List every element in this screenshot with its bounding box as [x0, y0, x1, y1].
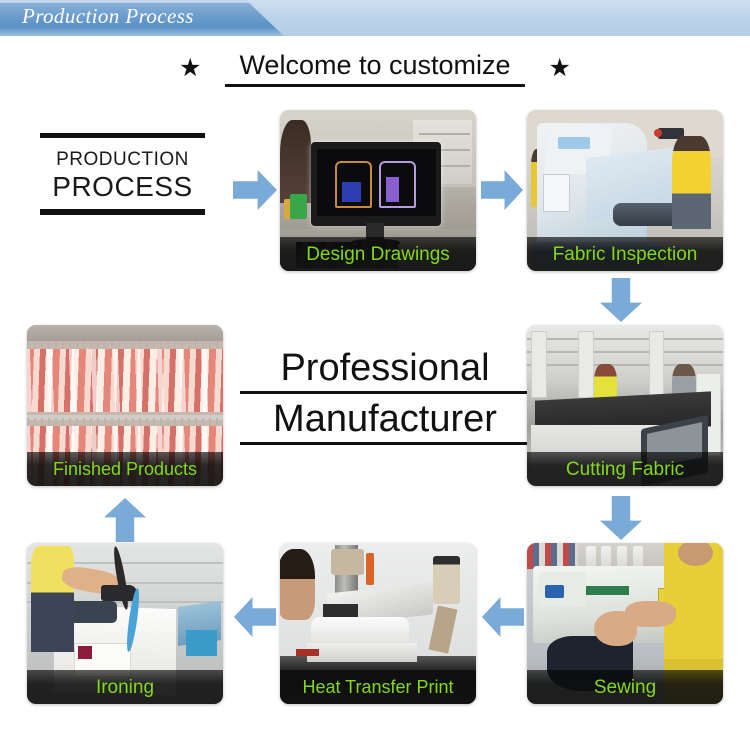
step-card-heat-transfer[interactable]: Heat Transfer Print — [280, 543, 476, 704]
caption-bar-design-drawings: Design Drawings — [280, 237, 476, 271]
caption-bar-sewing: Sewing — [527, 670, 723, 704]
arrow-ironing-to-finished — [104, 498, 146, 542]
production-process-logo: PRODUCTION PROCESS — [40, 133, 205, 215]
caption-heat-transfer: Heat Transfer Print — [302, 678, 453, 696]
arrow-cutting-to-sewing — [600, 496, 642, 540]
slogan-line-2: Manufacturer — [240, 399, 530, 445]
rule-bottom — [40, 209, 205, 215]
production-word: PRODUCTION — [40, 149, 205, 171]
caption-bar-ironing: Ironing — [27, 670, 223, 704]
star-icon-right: ★ — [549, 56, 571, 81]
caption-bar-fabric-inspection: Fabric Inspection — [527, 237, 723, 271]
caption-fabric-inspection: Fabric Inspection — [553, 245, 698, 264]
page-title: Production Process — [22, 4, 194, 29]
caption-design-drawings: Design Drawings — [306, 245, 450, 264]
step-card-design-drawings[interactable]: Design Drawings — [280, 110, 476, 271]
arrow-fabric-to-cutting — [600, 278, 642, 322]
caption-ironing: Ironing — [96, 678, 154, 697]
slogan-line-1: Professional — [240, 348, 530, 394]
arrow-heat-to-ironing — [234, 597, 276, 637]
step-card-cutting-fabric[interactable]: Cutting Fabric — [527, 325, 723, 486]
arrow-design-to-fabric — [481, 170, 523, 210]
arrow-production-to-design — [233, 170, 277, 210]
caption-cutting-fabric: Cutting Fabric — [566, 460, 684, 479]
process-word: PROCESS — [40, 171, 205, 203]
welcome-row: ★ Welcome to customize ★ — [0, 44, 750, 92]
center-slogan: Professional Manufacturer — [240, 348, 530, 445]
step-card-fabric-inspection[interactable]: Fabric Inspection — [527, 110, 723, 271]
step-card-sewing[interactable]: Sewing — [527, 543, 723, 704]
step-card-ironing[interactable]: Ironing — [27, 543, 223, 704]
caption-sewing: Sewing — [594, 678, 656, 697]
caption-finished-products: Finished Products — [53, 460, 197, 478]
rule-top — [40, 133, 205, 138]
caption-bar-heat-transfer: Heat Transfer Print — [280, 670, 476, 704]
arrow-sewing-to-heat — [482, 597, 524, 637]
welcome-heading: Welcome to customize — [225, 50, 524, 87]
step-card-finished-products[interactable]: Finished Products — [27, 325, 223, 486]
star-icon-left: ★ — [179, 56, 201, 81]
header-banner: Production Process — [0, 0, 750, 36]
caption-bar-cutting-fabric: Cutting Fabric — [527, 452, 723, 486]
caption-bar-finished-products: Finished Products — [27, 452, 223, 486]
